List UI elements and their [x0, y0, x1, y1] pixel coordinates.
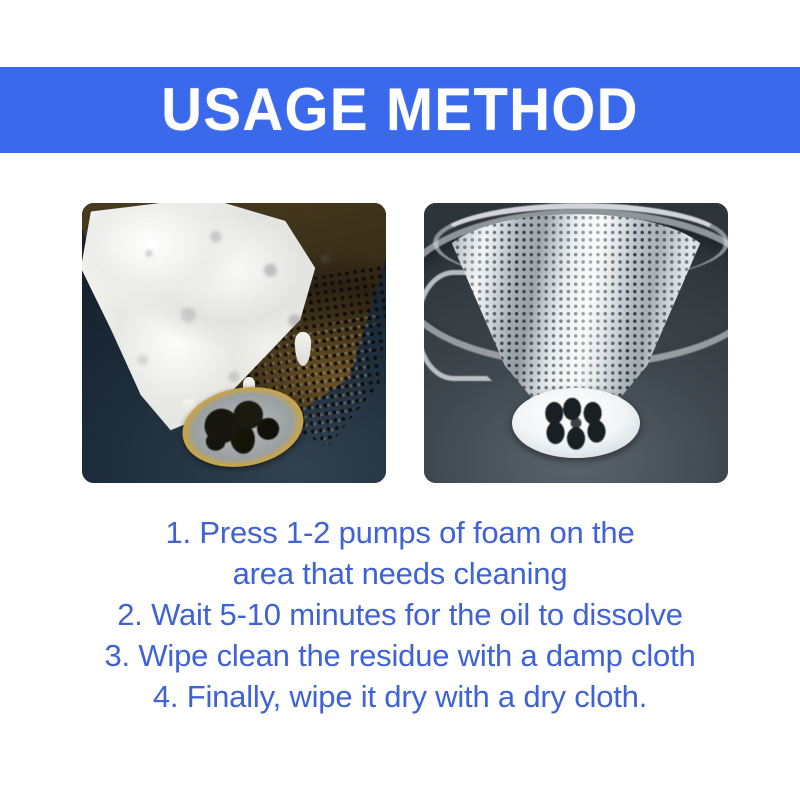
photo-after-cleaned	[424, 203, 728, 483]
page-title: USAGE METHOD	[161, 80, 639, 140]
photo-before-foam-applied	[82, 203, 386, 483]
instruction-line-3: 3. Wipe clean the residue with a damp cl…	[0, 635, 800, 676]
strainer-rim	[433, 203, 728, 282]
usage-instructions: 1. Press 1-2 pumps of foam on the area t…	[0, 512, 800, 717]
instruction-line-4: 4. Finally, wipe it dry with a dry cloth…	[0, 676, 800, 717]
clean-disc-slots	[512, 388, 640, 458]
instruction-line-1: 1. Press 1-2 pumps of foam on the	[0, 512, 800, 553]
product-usage-infographic: USAGE METHOD	[0, 0, 800, 800]
instruction-line-1-cont: area that needs cleaning	[0, 553, 800, 594]
instruction-line-2: 2. Wait 5-10 minutes for the oil to diss…	[0, 594, 800, 635]
photo-row	[0, 203, 800, 483]
usage-method-banner: USAGE METHOD	[0, 67, 800, 153]
